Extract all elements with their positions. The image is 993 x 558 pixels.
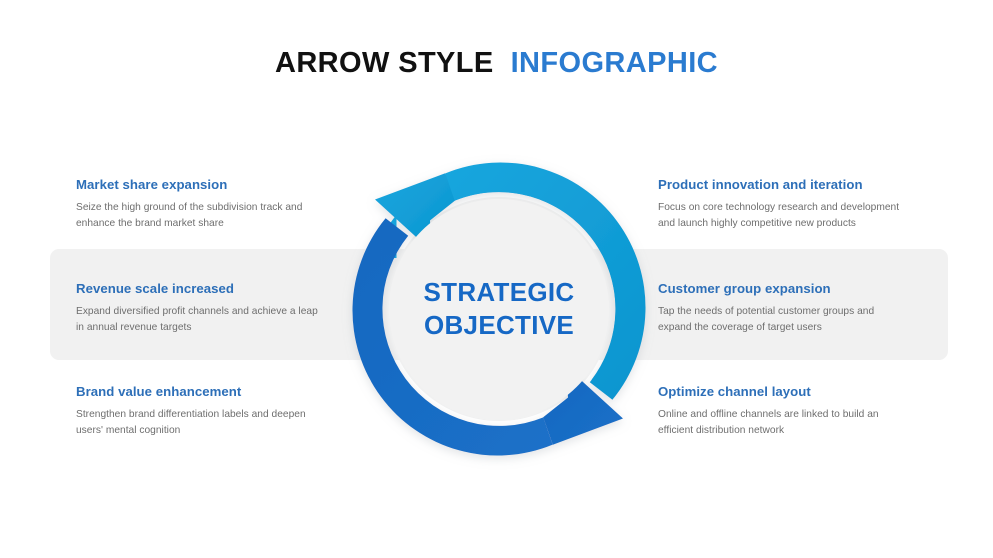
page-title-part1: ARROW STYLE — [275, 47, 494, 79]
item-title: Market share expansion — [76, 177, 328, 193]
item-title: Product innovation and iteration — [658, 177, 908, 193]
item-title: Customer group expansion — [658, 281, 898, 297]
item-brand-value-enhancement[interactable]: Brand value enhancement Strengthen brand… — [76, 384, 328, 440]
item-description: Online and offline channels are linked t… — [658, 407, 908, 440]
item-title: Brand value enhancement — [76, 384, 328, 400]
page-title: ARROW STYLE INFOGRAPHIC — [0, 48, 993, 80]
page-title-part2: INFOGRAPHIC — [511, 47, 718, 79]
item-title: Revenue scale increased — [76, 281, 328, 297]
circular-cycle-arrows-graphic — [338, 148, 660, 470]
item-product-innovation-and-iteration[interactable]: Product innovation and iteration Focus o… — [658, 177, 908, 233]
item-revenue-scale-increased[interactable]: Revenue scale increased Expand diversifi… — [76, 281, 328, 337]
inner-circle-top — [389, 199, 609, 419]
item-description: Seize the high ground of the subdivision… — [76, 200, 328, 233]
item-customer-group-expansion[interactable]: Customer group expansion Tap the needs o… — [658, 281, 898, 337]
item-description: Expand diversified profit channels and a… — [76, 304, 328, 337]
item-title: Optimize channel layout — [658, 384, 908, 400]
item-description: Focus on core technology research and de… — [658, 200, 908, 233]
item-market-share-expansion[interactable]: Market share expansion Seize the high gr… — [76, 177, 328, 233]
item-optimize-channel-layout[interactable]: Optimize channel layout Online and offli… — [658, 384, 908, 440]
item-description: Tap the needs of potential customer grou… — [658, 304, 898, 337]
item-description: Strengthen brand differentiation labels … — [76, 407, 328, 440]
